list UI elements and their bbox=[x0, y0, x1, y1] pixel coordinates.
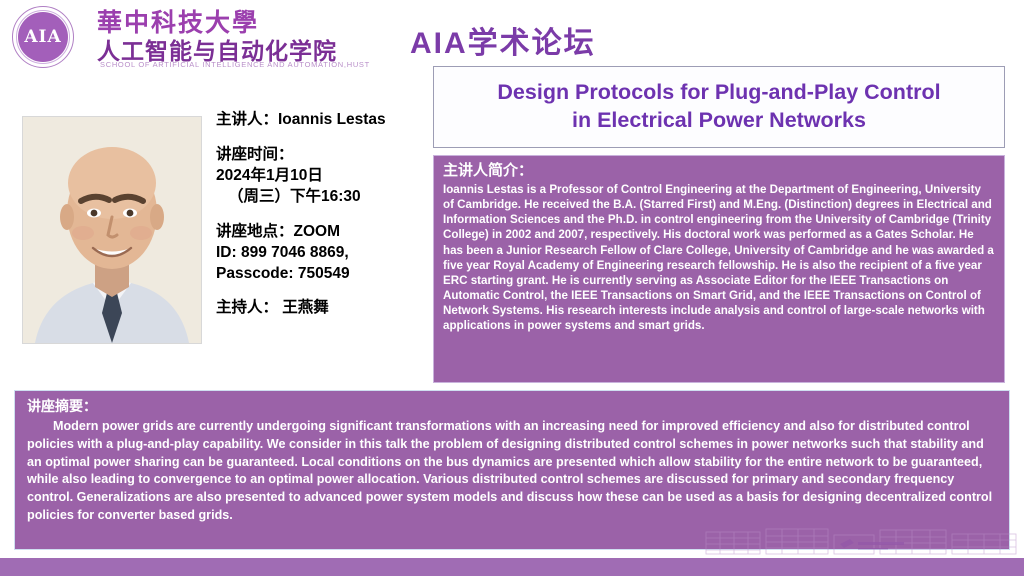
meeting-passcode: Passcode: 750549 bbox=[216, 264, 431, 285]
time-detail: （周三）下午16:30 bbox=[216, 187, 431, 208]
speaker-info-block: 主讲人：Ioannis Lestas 讲座时间： 2024年1月10日 （周三）… bbox=[216, 110, 431, 319]
talk-title-line-1: Design Protocols for Plug-and-Play Contr… bbox=[497, 79, 940, 107]
venue-label: 讲座地点：ZOOM bbox=[216, 222, 431, 243]
forum-title: AIA学术论坛 bbox=[410, 18, 596, 62]
abstract-text: Modern power grids are currently undergo… bbox=[27, 418, 997, 525]
talk-title-box: Design Protocols for Plug-and-Play Contr… bbox=[433, 66, 1005, 148]
poster-header: AIA 華中科技大學 人工智能与自动化学院 SCHOOL OF ARTIFICI… bbox=[0, 0, 1024, 72]
time-block: 讲座时间： 2024年1月10日 （周三）下午16:30 bbox=[216, 145, 431, 208]
school-seal-logo: AIA bbox=[12, 6, 74, 68]
bio-heading: 主讲人简介： bbox=[443, 162, 995, 181]
host-line: 主持人： 王燕舞 bbox=[216, 298, 431, 319]
portrait-image bbox=[23, 117, 201, 343]
bio-text: Ioannis Lestas is a Professor of Control… bbox=[443, 182, 995, 334]
time-date: 2024年1月10日 bbox=[216, 166, 431, 187]
speaker-portrait bbox=[22, 116, 202, 344]
abstract-heading: 讲座摘要： bbox=[27, 398, 997, 415]
school-name-en: SCHOOL OF ARTIFICIAL INTELLIGENCE AND AU… bbox=[100, 60, 370, 69]
abstract-box: 讲座摘要： Modern power grids are currently u… bbox=[14, 390, 1010, 550]
bottom-accent-bar bbox=[0, 558, 1024, 576]
speaker-name-line: 主讲人：Ioannis Lestas bbox=[216, 110, 431, 131]
time-label: 讲座时间： bbox=[216, 145, 431, 166]
talk-title-line-2: in Electrical Power Networks bbox=[497, 107, 940, 135]
meeting-id: ID: 899 7046 8869, bbox=[216, 243, 431, 264]
talk-title: Design Protocols for Plug-and-Play Contr… bbox=[487, 79, 950, 134]
seal-monogram: AIA bbox=[13, 27, 73, 47]
venue-block: 讲座地点：ZOOM ID: 899 7046 8869, Passcode: 7… bbox=[216, 222, 431, 285]
seminar-poster: AIA 華中科技大學 人工智能与自动化学院 SCHOOL OF ARTIFICI… bbox=[0, 0, 1024, 576]
speaker-bio-box: 主讲人简介： Ioannis Lestas is a Professor of … bbox=[433, 155, 1005, 383]
